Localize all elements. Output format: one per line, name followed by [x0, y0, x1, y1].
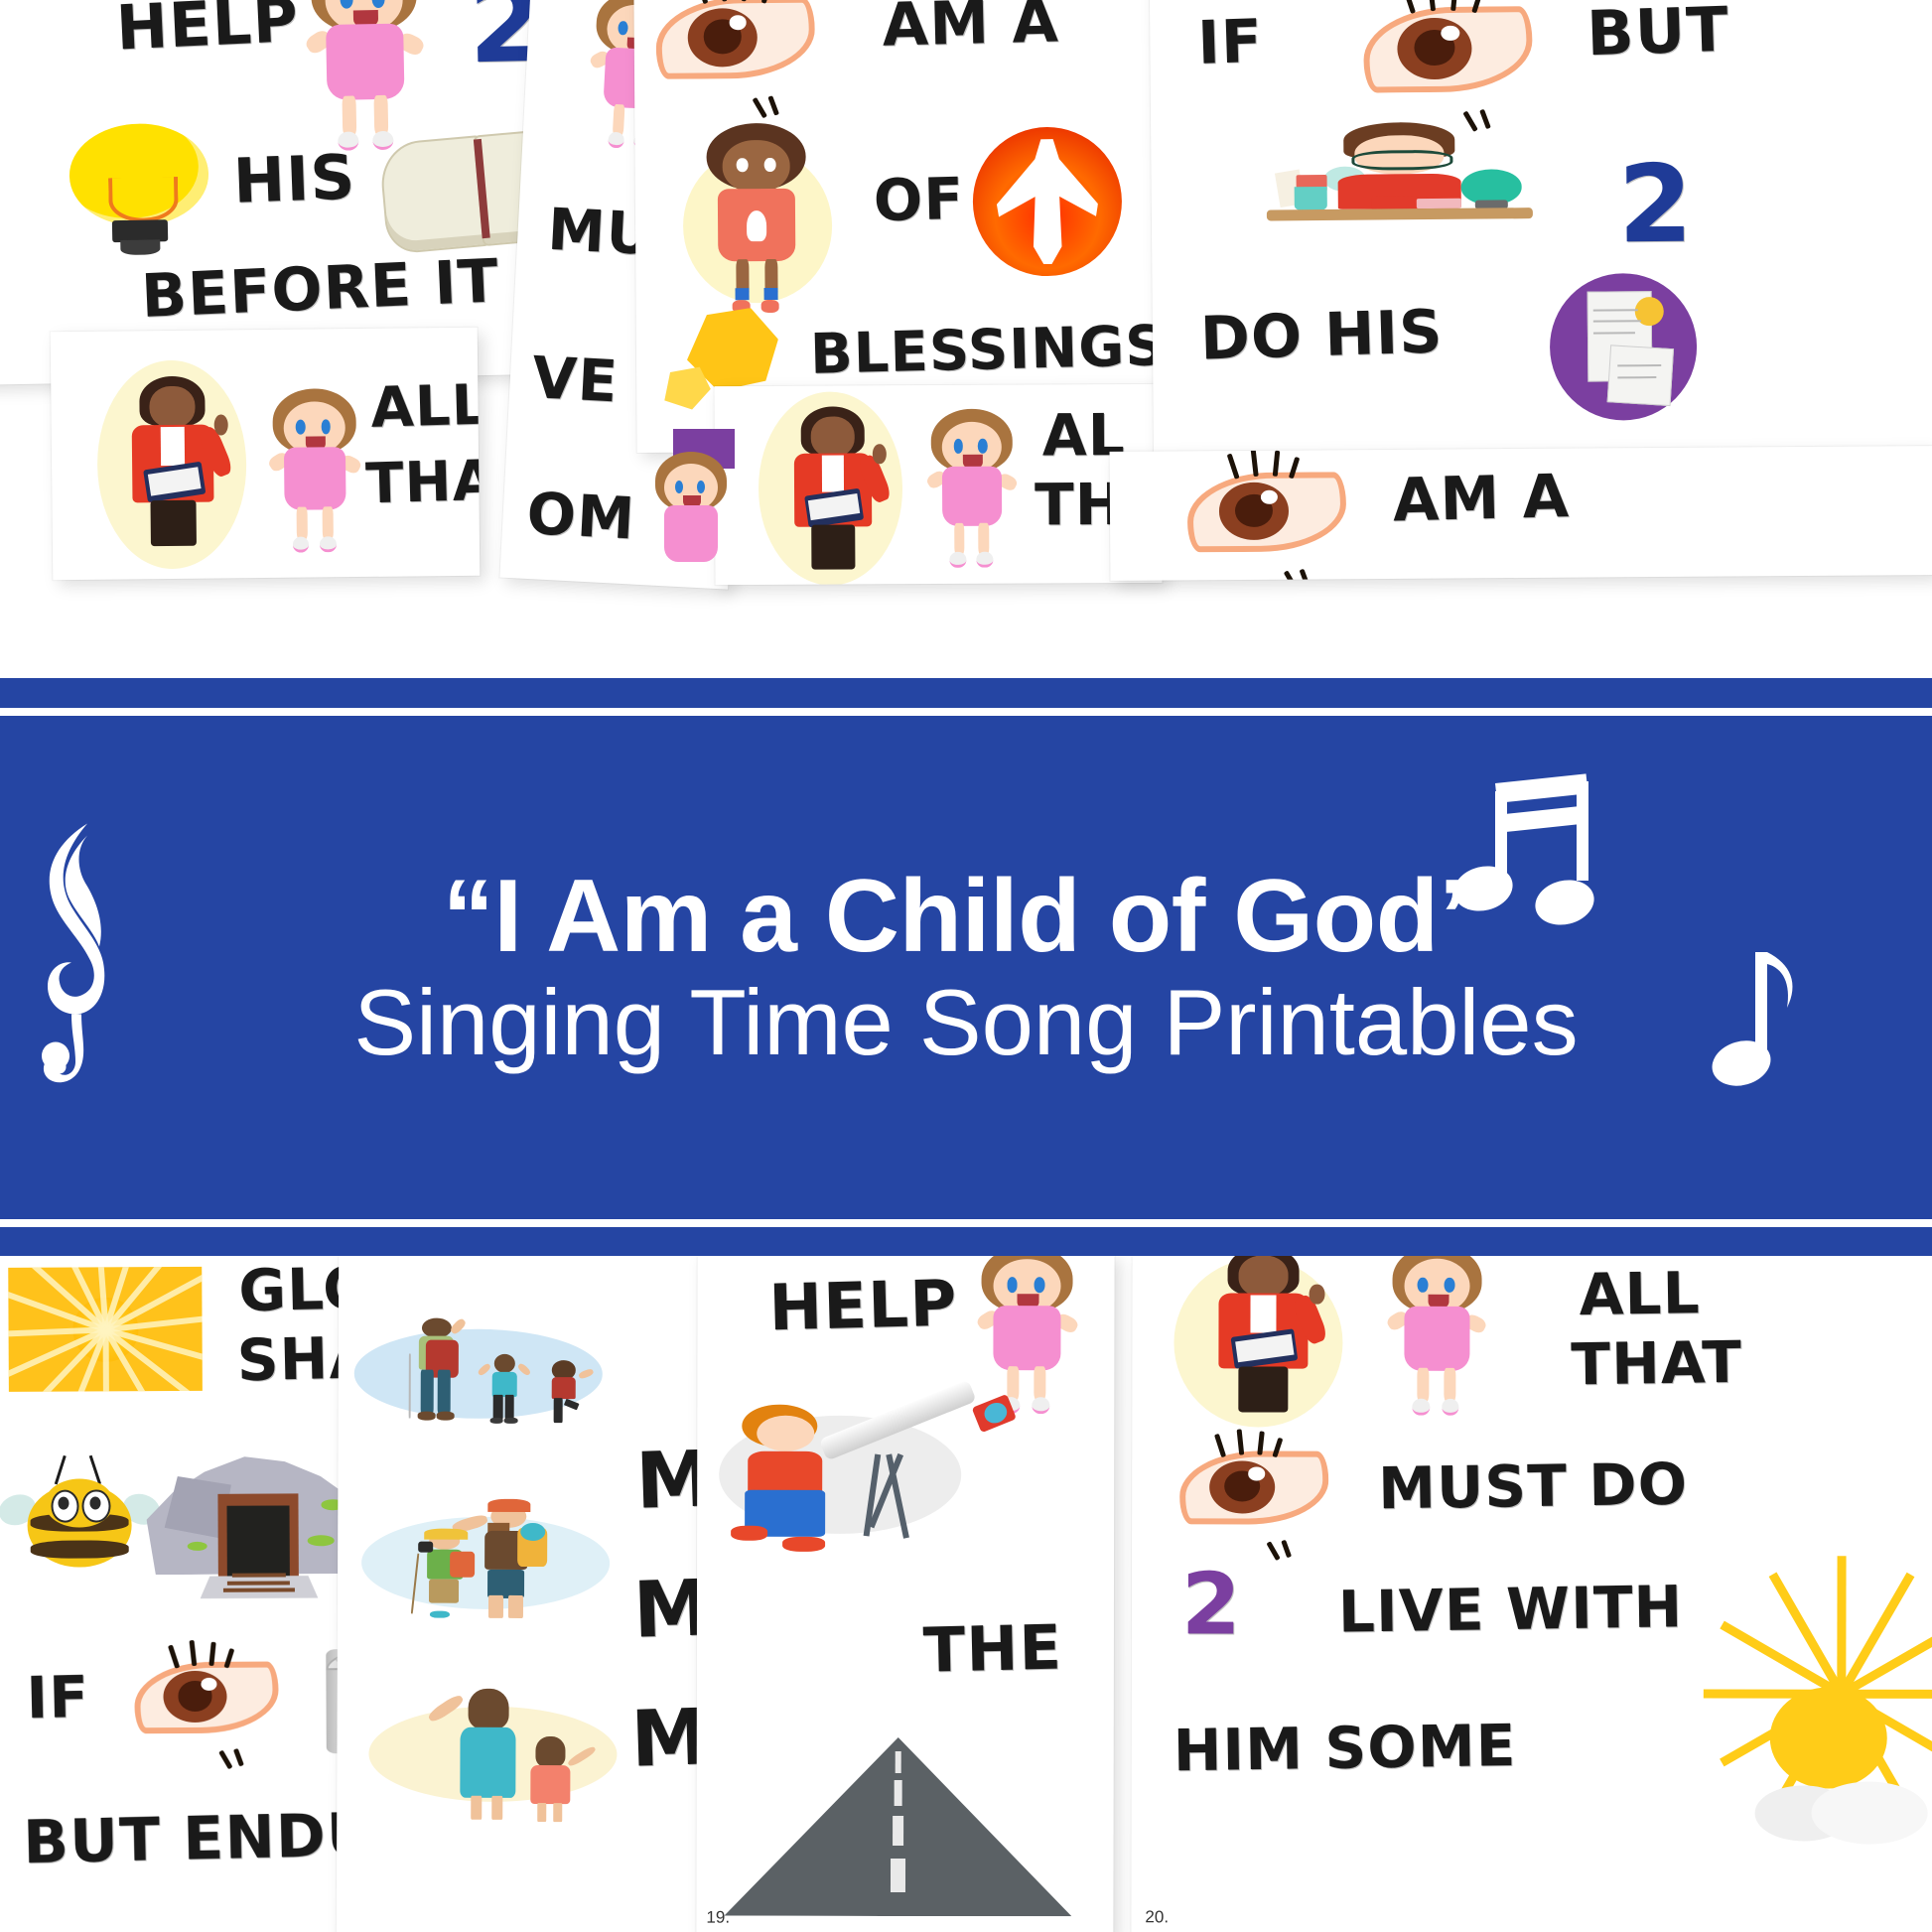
word-the: THE — [922, 1617, 1063, 1682]
word-ve: VE — [530, 348, 620, 410]
card-all-that-must-do-live-with-him-some[interactable]: ALL THAT MUST DO 2 LIVE WITH HIM SOME — [1131, 1252, 1932, 1932]
card-if-but-do-his[interactable]: IF BUT 2 DO HIS — [1150, 0, 1932, 476]
word-am-a: AM A — [1392, 467, 1571, 530]
father-child-hiking-scene-icon — [361, 1490, 611, 1635]
mother-child-scene-icon — [368, 1679, 618, 1829]
hiker-child-1 — [483, 1354, 526, 1427]
word-help: HELP — [768, 1272, 959, 1340]
number-2-purple-icon: 2 — [1181, 1562, 1243, 1647]
hiker-adult — [409, 1318, 464, 1430]
lightbulb-icon — [69, 122, 210, 259]
teacher-reading-icon — [108, 367, 237, 562]
road-icon — [724, 1737, 1071, 1917]
girl-peeking-icon — [643, 452, 739, 601]
boy-telescope-icon — [719, 1387, 1007, 1567]
word-but: BUT — [1586, 0, 1730, 65]
banner-bottom-stripe — [0, 1219, 1932, 1227]
card-all-that[interactable]: ALL THAT — [51, 328, 481, 580]
eye-icon — [1179, 1450, 1328, 1524]
banner-title: “I Am a Child of God” — [443, 864, 1489, 969]
word-of: OF — [873, 170, 965, 229]
girl-pink-dress-icon — [259, 388, 370, 553]
girl-pink-dress-icon — [294, 0, 437, 153]
word-blessings: BLESSINGS — [809, 319, 1167, 383]
card-glory-share-if-but-endure[interactable]: GLOR SHAR IF — [0, 1252, 389, 1932]
savior-red-circle-icon — [972, 127, 1122, 277]
card-hikers-m-m-m[interactable]: M M M — [337, 1252, 736, 1932]
boy-at-desk-icon — [1260, 115, 1539, 276]
title-banner: “I Am a Child of God” Singing Time Song … — [0, 678, 1932, 1256]
word-before-it: BEFORE IT — [140, 251, 500, 327]
word-his: HIS — [232, 146, 357, 211]
child-figure — [522, 1736, 577, 1826]
card-am-a-3[interactable]: AM A — [1110, 446, 1932, 581]
girl-pink-dress-icon — [1378, 1252, 1495, 1416]
word-but-endure: BUT ENDUR — [23, 1804, 389, 1872]
purple-scroll-icon — [1549, 273, 1697, 421]
page-number-19: 19. — [706, 1908, 730, 1928]
page-number-20: 20. — [1145, 1907, 1169, 1927]
eye-icon — [1187, 472, 1347, 552]
banner-top-stripe — [0, 708, 1932, 716]
sunburst-icon — [8, 1267, 203, 1392]
word-him-some: HIM SOME — [1173, 1717, 1517, 1779]
word-that: THAT — [365, 453, 481, 513]
word-live-with: LIVE WITH — [1338, 1578, 1684, 1640]
word-all: ALL — [370, 378, 481, 437]
number-2-blue-icon: 2 — [1617, 152, 1695, 260]
hiker-child-2 — [543, 1360, 586, 1430]
word-that: THAT — [1571, 1333, 1743, 1394]
word-if: IF — [1196, 12, 1264, 73]
word-help: HELP — [115, 0, 301, 60]
girl-curly-hair-icon — [686, 119, 826, 324]
eye-icon — [655, 0, 815, 79]
poster-canvas: HELP 2 HIS BEFORE IT — [0, 0, 1932, 1932]
teacher-reading-icon — [772, 399, 895, 585]
word-am-a: AM A — [882, 0, 1060, 56]
mother-figure — [453, 1689, 522, 1826]
sun-clouds-icon — [1747, 1680, 1932, 1844]
card-all-that-2[interactable]: AL THA — [714, 384, 1162, 585]
eye-icon — [1363, 6, 1533, 92]
banner-content: “I Am a Child of God” Singing Time Song … — [0, 678, 1932, 1256]
hiker-father — [471, 1497, 545, 1627]
word-must-do: MUST DO — [1378, 1455, 1689, 1518]
hiker-child-binoculars — [416, 1528, 476, 1626]
banner-subtitle: Singing Time Song Printables — [353, 975, 1578, 1070]
word-all: ALL — [1579, 1264, 1701, 1323]
girl-pink-dress-icon — [918, 409, 1027, 569]
bee-icon — [7, 1451, 152, 1587]
card-help-the[interactable]: HELP THE — [696, 1253, 1114, 1932]
teacher-reading-icon — [1193, 1252, 1332, 1427]
eye-icon — [134, 1662, 278, 1734]
word-if: IF — [26, 1668, 90, 1726]
word-om: OM — [525, 484, 636, 548]
word-do-his: DO HIS — [1199, 302, 1444, 368]
hiking-kids-scene-icon — [354, 1304, 603, 1444]
